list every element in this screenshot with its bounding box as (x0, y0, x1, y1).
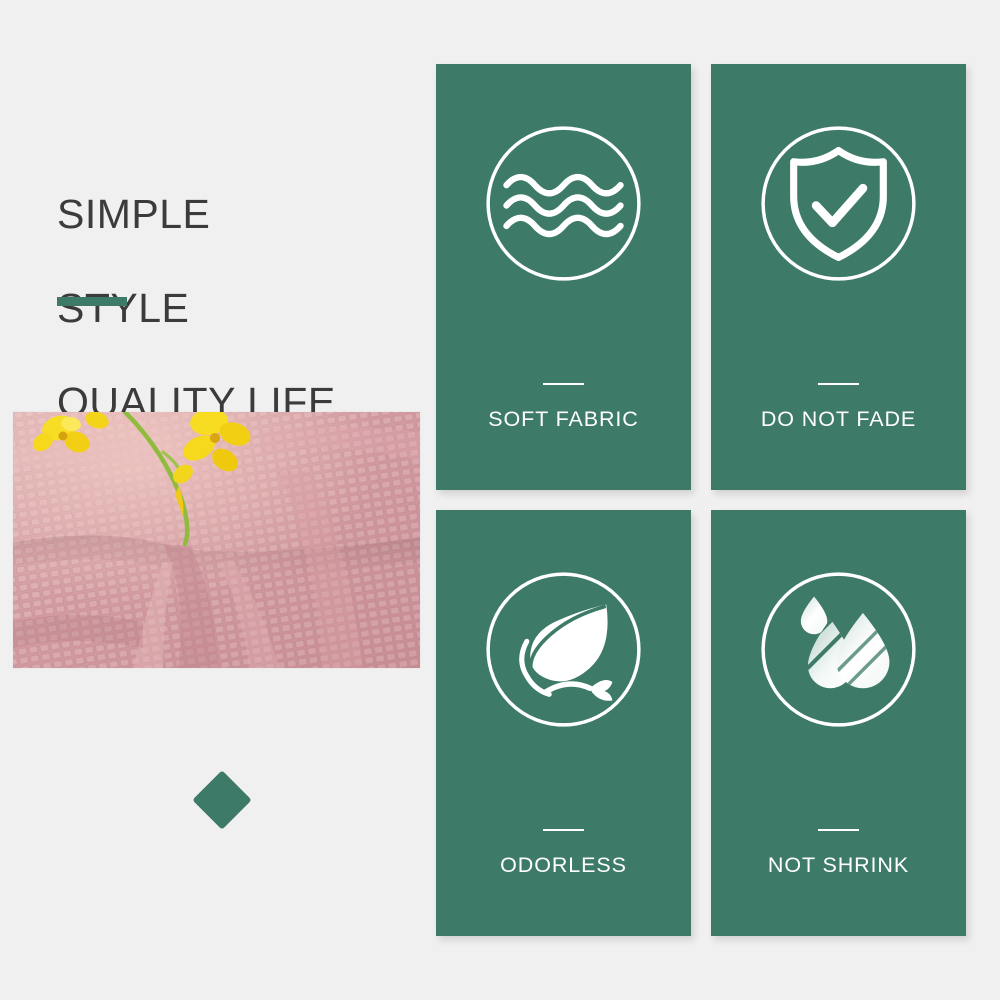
card-footer: ODORLESS (436, 829, 691, 878)
leaf-sprout-icon (482, 568, 645, 731)
card-label-not-shrink: NOT SHRINK (768, 853, 909, 878)
fabric-photo-image (13, 412, 420, 668)
shield-check-icon (757, 122, 920, 285)
page-title-line-2: STYLE (57, 285, 336, 332)
feature-card-odorless[interactable]: ODORLESS (436, 510, 691, 936)
card-footer: DO NOT FADE (711, 383, 966, 432)
card-label-odorless: ODORLESS (500, 853, 627, 878)
page-title-line-1: SIMPLE (57, 191, 336, 238)
card-divider (543, 829, 584, 831)
diamond-marker (192, 770, 251, 829)
card-label-soft-fabric: SOFT FABRIC (488, 407, 638, 432)
card-divider (818, 383, 859, 385)
card-divider (543, 383, 584, 385)
water-drops-icon (757, 568, 920, 731)
product-photo (13, 412, 420, 668)
feature-card-not-shrink[interactable]: NOT SHRINK (711, 510, 966, 936)
waves-icon (482, 122, 645, 285)
feature-card-do-not-fade[interactable]: DO NOT FADE (711, 64, 966, 490)
feature-card-grid: SOFT FABRIC DO NOT FADE (436, 64, 966, 936)
card-footer: NOT SHRINK (711, 829, 966, 878)
card-label-do-not-fade: DO NOT FADE (761, 407, 916, 432)
card-divider (818, 829, 859, 831)
feature-card-soft-fabric[interactable]: SOFT FABRIC (436, 64, 691, 490)
card-footer: SOFT FABRIC (436, 383, 691, 432)
product-feature-banner: SIMPLE STYLE QUALITY LIFE (0, 0, 1000, 1000)
accent-underline (57, 297, 127, 306)
